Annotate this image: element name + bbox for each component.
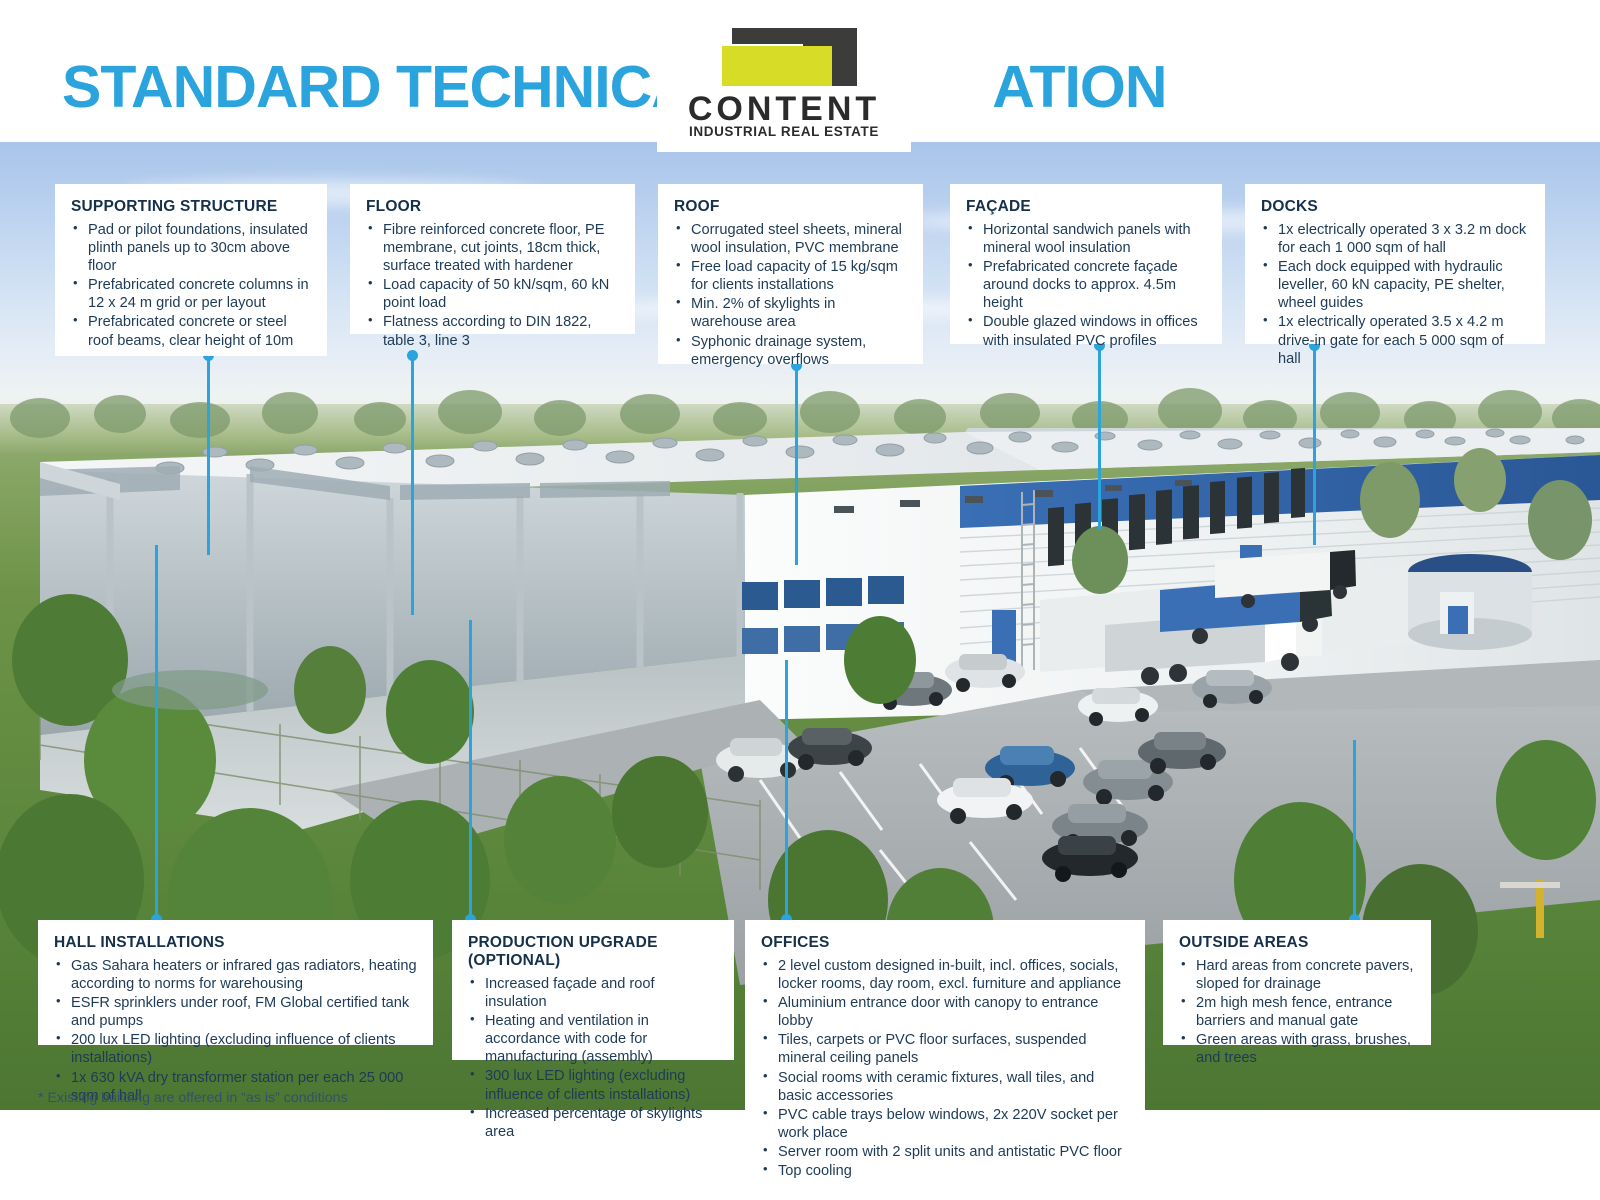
callout-item: 300 lux LED lighting (excluding influenc… [468, 1067, 718, 1103]
page-title-part2: ATION [992, 54, 1166, 120]
callout-item: Free load capacity of 15 kg/sqm for clie… [674, 258, 907, 294]
callout-hall-installations: HALL INSTALLATIONS Gas Sahara heaters or… [38, 920, 433, 1045]
callout-item: Horizontal sandwich panels with mineral … [966, 221, 1206, 257]
callout-item: Pad or pilot foundations, insulated plin… [71, 221, 311, 275]
callout-item: Top cooling [761, 1162, 1129, 1180]
callout-list: Corrugated steel sheets, mineral wool in… [674, 221, 907, 369]
page-title: STANDARD TECHNICAL ATION [62, 58, 1166, 117]
callout-title: OFFICES [761, 934, 1129, 952]
callout-item: Increased percentage of skylights area [468, 1105, 718, 1141]
callout-item: Corrugated steel sheets, mineral wool in… [674, 221, 907, 257]
callout-item: Double glazed windows in offices with in… [966, 313, 1206, 349]
callout-list: Horizontal sandwich panels with mineral … [966, 221, 1206, 350]
callout-item: Prefabricated concrete or steel roof bea… [71, 313, 311, 349]
leader-line-facade [1098, 345, 1101, 530]
callout-item: PVC cable trays below windows, 2x 220V s… [761, 1106, 1129, 1142]
callout-supporting-structure: SUPPORTING STRUCTURE Pad or pilot founda… [55, 184, 327, 356]
callout-item: Prefabricated concrete façade around doc… [966, 258, 1206, 312]
leader-dot [407, 350, 418, 361]
leader-line-outside-areas [1353, 740, 1356, 920]
callout-title: DOCKS [1261, 198, 1529, 216]
callout-list: Hard areas from concrete pavers, sloped … [1179, 957, 1415, 1068]
callout-item: 1x electrically operated 3 x 3.2 m dock … [1261, 221, 1529, 257]
callout-item: Syphonic drainage system, emergency over… [674, 333, 907, 369]
sprinkler-water-tank [1408, 554, 1532, 650]
callout-item: Prefabricated concrete columns in 12 x 2… [71, 276, 311, 312]
callout-item: Min. 2% of skylights in warehouse area [674, 295, 907, 331]
callout-production-upgrade: PRODUCTION UPGRADE (OPTIONAL) Increased … [452, 920, 734, 1060]
callout-list: Increased façade and roof insulation Hea… [468, 975, 718, 1141]
callout-list: 2 level custom designed in-built, incl. … [761, 957, 1129, 1180]
callout-roof: ROOF Corrugated steel sheets, mineral wo… [658, 184, 923, 364]
callout-item: Increased façade and roof insulation [468, 975, 718, 1011]
callout-item: 1x electrically operated 3.5 x 4.2 m dri… [1261, 313, 1529, 367]
callout-outside-areas: OUTSIDE AREAS Hard areas from concrete p… [1163, 920, 1431, 1045]
leader-line-roof [795, 365, 798, 565]
callout-item: Hard areas from concrete pavers, sloped … [1179, 957, 1415, 993]
callout-floor: FLOOR Fibre reinforced concrete floor, P… [350, 184, 635, 334]
leader-line-docks [1313, 345, 1316, 545]
callout-item: ESFR sprinklers under roof, FM Global ce… [54, 994, 417, 1030]
callout-title: ROOF [674, 198, 907, 216]
callout-item: Each dock equipped with hydraulic levell… [1261, 258, 1529, 312]
callout-item: Aluminium entrance door with canopy to e… [761, 994, 1129, 1030]
callout-title: FLOOR [366, 198, 619, 216]
callout-item: Tiles, carpets or PVC floor surfaces, su… [761, 1031, 1129, 1067]
logo-tagline: INDUSTRIAL REAL ESTATE [657, 124, 911, 139]
callout-item: Green areas with grass, brushes, and tre… [1179, 1031, 1415, 1067]
callout-item: Flatness according to DIN 1822, table 3,… [366, 313, 619, 349]
callout-list: Fibre reinforced concrete floor, PE memb… [366, 221, 619, 350]
callout-title: SUPPORTING STRUCTURE [71, 198, 311, 216]
page-title-part1: STANDARD TECHNICAL [62, 54, 727, 120]
retention-pond [112, 670, 268, 710]
callout-item: Server room with 2 split units and antis… [761, 1143, 1129, 1161]
leader-line-offices [785, 660, 788, 920]
callout-title: FAÇADE [966, 198, 1206, 216]
leader-line-supporting-structure [207, 355, 210, 555]
callout-list: 1x electrically operated 3 x 3.2 m dock … [1261, 221, 1529, 368]
leader-line-floor [411, 355, 414, 615]
callout-item: Social rooms with ceramic fixtures, wall… [761, 1069, 1129, 1105]
callout-offices: OFFICES 2 level custom designed in-built… [745, 920, 1145, 1110]
footnote: * Existing building are offered in “as i… [38, 1090, 348, 1106]
callout-title: HALL INSTALLATIONS [54, 934, 417, 952]
callout-item: 2m high mesh fence, entrance barriers an… [1179, 994, 1415, 1030]
leader-line-hall-installations [155, 545, 158, 920]
callout-facade: FAÇADE Horizontal sandwich panels with m… [950, 184, 1222, 344]
company-logo: CONTENT INDUSTRIAL REAL ESTATE [657, 0, 911, 152]
callout-title: PRODUCTION UPGRADE (OPTIONAL) [468, 934, 718, 970]
callout-list: Pad or pilot foundations, insulated plin… [71, 221, 311, 350]
callout-item: 2 level custom designed in-built, incl. … [761, 957, 1129, 993]
callout-item: 200 lux LED lighting (excluding influenc… [54, 1031, 417, 1067]
leader-line-production-upgrade [469, 620, 472, 920]
callout-docks: DOCKS 1x electrically operated 3 x 3.2 m… [1245, 184, 1545, 344]
callout-item: Heating and ventilation in accordance wi… [468, 1012, 718, 1066]
callout-item: Fibre reinforced concrete floor, PE memb… [366, 221, 619, 275]
callout-item: Load capacity of 50 kN/sqm, 60 kN point … [366, 276, 619, 312]
callout-list: Gas Sahara heaters or infrared gas radia… [54, 957, 417, 1105]
logo-mark-icon [717, 28, 857, 86]
callout-title: OUTSIDE AREAS [1179, 934, 1415, 952]
infographic-page: STANDARD TECHNICAL ATION CONTENT INDUSTR… [0, 0, 1600, 1200]
callout-item: Gas Sahara heaters or infrared gas radia… [54, 957, 417, 993]
